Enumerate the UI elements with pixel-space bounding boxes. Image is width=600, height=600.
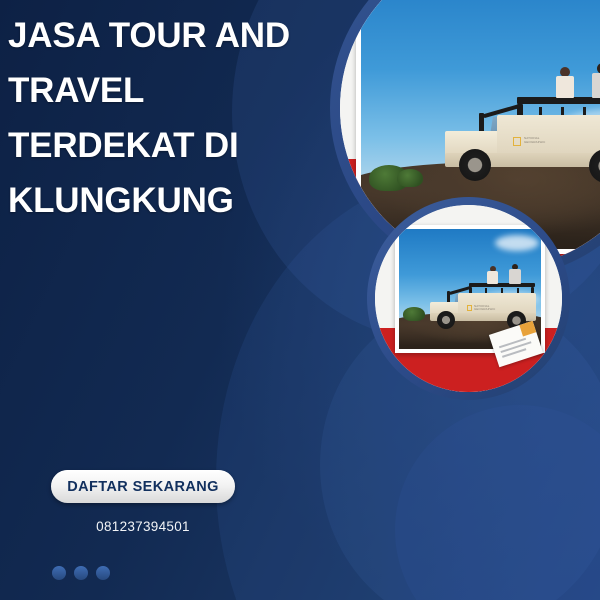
carousel-dots[interactable] (52, 566, 110, 580)
passenger-icon (509, 264, 523, 284)
carousel-dot-3[interactable] (96, 566, 110, 580)
background-swoosh-4 (395, 405, 600, 600)
bush-icon (397, 169, 423, 187)
contact-phone-number[interactable]: 081237394501 (51, 519, 235, 534)
headline-line-2: TRAVEL (8, 63, 338, 118)
headline-line-4: KLUNGKUNG (8, 173, 338, 228)
carousel-dot-2[interactable] (74, 566, 88, 580)
bush-icon (403, 307, 425, 321)
passenger-icon (487, 266, 500, 284)
promo-banner: NATIONAL GEOGRAPHIC (0, 0, 600, 600)
cloud-icon (495, 235, 539, 251)
headline-line-1: JASA TOUR AND (8, 8, 338, 63)
jeep-vehicle-top: NATIONAL GEOGRAPHIC (439, 87, 600, 195)
jeep-photo-bottom: NATIONAL GEOGRAPHIC (375, 205, 562, 392)
national-geographic-logo-icon (513, 137, 521, 146)
passenger-icon (555, 67, 577, 99)
national-geographic-logo-icon (467, 305, 472, 311)
headline-line-3: TERDEKAT DI (8, 118, 338, 173)
passenger-icon (591, 63, 600, 99)
register-now-button[interactable]: DAFTAR SEKARANG (51, 470, 235, 503)
carousel-dot-1[interactable] (52, 566, 66, 580)
page-title: JASA TOUR AND TRAVEL TERDEKAT DI KLUNGKU… (8, 8, 338, 228)
